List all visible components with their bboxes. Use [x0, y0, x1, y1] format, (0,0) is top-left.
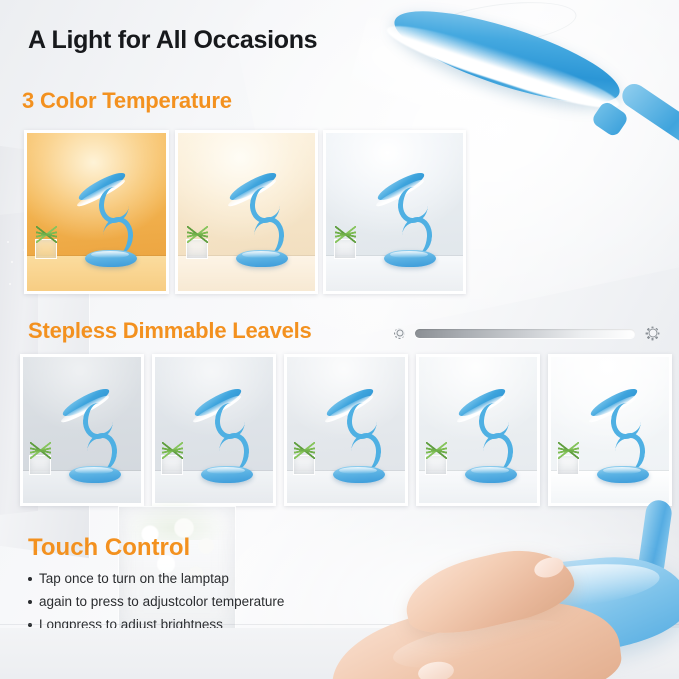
- lamp-base-highlight: [75, 467, 113, 474]
- plant-leaves: [335, 226, 356, 243]
- scene-dim-3: [287, 357, 405, 503]
- lamp-base-highlight: [390, 251, 428, 258]
- color-temp-panel-cool: [323, 130, 466, 294]
- lamp-base-highlight: [91, 251, 129, 258]
- scene-natural-white: [178, 133, 315, 291]
- scene-dim-5: [551, 357, 669, 503]
- bullet-text: Tap once to turn on the lamptap: [39, 568, 229, 589]
- lamp-base-highlight: [339, 467, 377, 474]
- plant-leaves: [30, 442, 51, 459]
- bullet-dot-icon: [28, 577, 32, 581]
- plant-leaves: [426, 442, 447, 459]
- brightness-slider[interactable]: [392, 322, 662, 344]
- dimmable-panel-level-1: [20, 354, 144, 506]
- plant-leaves: [558, 442, 579, 459]
- section-heading-touch-control: Touch Control: [28, 534, 190, 562]
- hero-lamp-neck: [618, 79, 679, 160]
- lamp-base-highlight: [471, 467, 509, 474]
- list-item: again to press to adjustcolor temperatur…: [28, 591, 358, 612]
- plant-leaves: [187, 226, 208, 243]
- section-heading-dimmable: Stepless Dimmable Leavels: [28, 318, 312, 344]
- plant-leaves: [162, 442, 183, 459]
- dimmable-panel-level-3: [284, 354, 408, 506]
- touch-control-bullet-list: Tap once to turn on the lamptap again to…: [28, 568, 358, 637]
- scene-dim-4: [419, 357, 537, 503]
- section-heading-color-temperature: 3 Color Temperature: [22, 88, 232, 114]
- sun-small-icon: [392, 326, 407, 341]
- lamp-base-highlight: [242, 251, 280, 258]
- lamp-base-highlight: [207, 467, 245, 474]
- color-temp-panel-natural: [175, 130, 318, 294]
- lamp-base-highlight: [603, 467, 641, 474]
- product-infographic: A Light for All Occasions 3 Color Temper…: [0, 0, 679, 679]
- brightness-slider-track[interactable]: [415, 329, 635, 338]
- scene-dim-1: [23, 357, 141, 503]
- sun-small-core: [396, 330, 403, 337]
- dimmable-panel-level-2: [152, 354, 276, 506]
- page-title: A Light for All Occasions: [28, 26, 317, 55]
- scene-dim-2: [155, 357, 273, 503]
- color-temp-panel-warm: [24, 130, 169, 294]
- sun-large-core: [648, 329, 657, 338]
- list-item: Tap once to turn on the lamptap: [28, 568, 358, 589]
- dimmable-panel-level-4: [416, 354, 540, 506]
- plant-leaves: [294, 442, 315, 459]
- scene-cool-white: [326, 133, 463, 291]
- bullet-text: again to press to adjustcolor temperatur…: [39, 591, 284, 612]
- sun-large-icon: [643, 324, 662, 343]
- dimmable-panel-level-5: [548, 354, 672, 506]
- plant-leaves: [36, 226, 57, 243]
- bullet-dot-icon: [28, 600, 32, 604]
- scene-warm-white: [27, 133, 166, 291]
